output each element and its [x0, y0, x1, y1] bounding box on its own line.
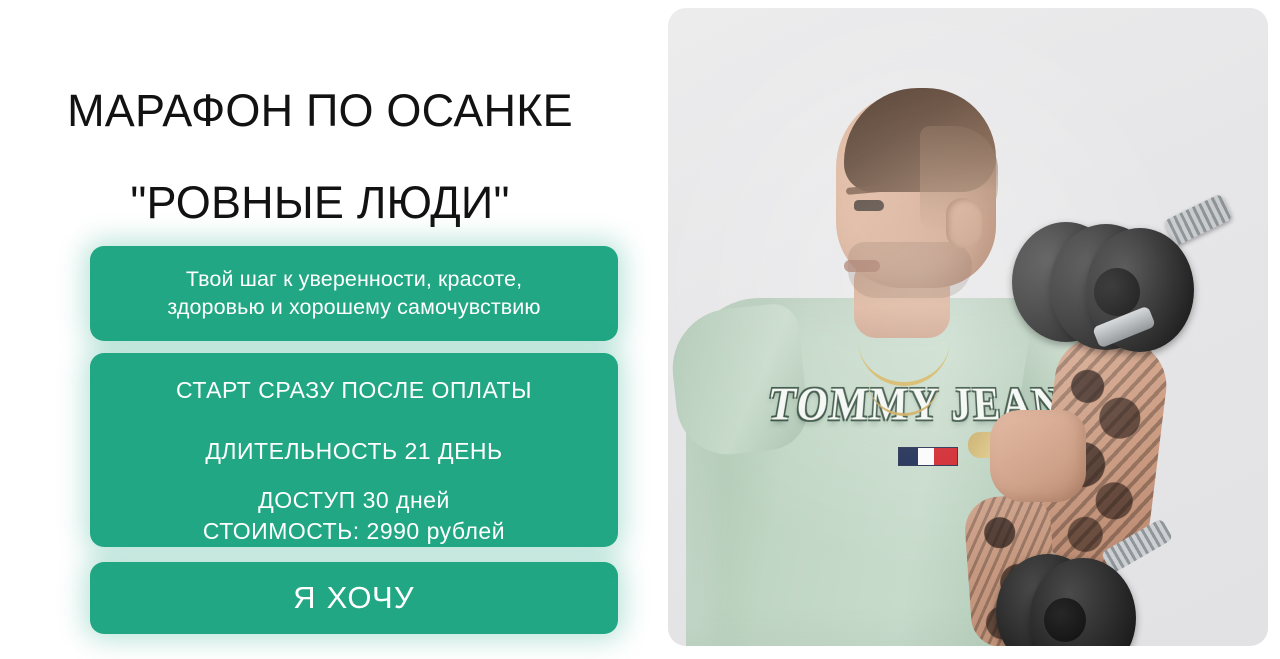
flag-navy-stripe: [899, 448, 918, 465]
lead-benefit-card: Твой шаг к уверенности, красоте, здоровь…: [90, 246, 618, 341]
detail-price-line: СТОИМОСТЬ: 2990 рублей: [203, 518, 505, 545]
dumbbell-lower: [986, 528, 1196, 646]
hero-photo-panel: TOMMY JEANS: [668, 8, 1268, 646]
tommy-flag-icon: [898, 447, 958, 466]
ear: [946, 198, 982, 248]
page-title-line-1: МАРАФОН ПО ОСАНКЕ: [0, 88, 640, 134]
detail-start-line: СТАРТ СРАЗУ ПОСЛЕ ОПЛАТЫ: [176, 377, 532, 404]
nose: [834, 204, 868, 250]
flag-red-stripe: [934, 448, 957, 465]
offer-card-stack: Твой шаг к уверенности, красоте, здоровь…: [90, 246, 618, 634]
mouth: [844, 260, 880, 272]
flag-white-stripe: [918, 448, 934, 465]
left-content-pane: МАРАФОН ПО ОСАНКЕ "РОВНЫЕ ЛЮДИ" Твой шаг…: [0, 0, 668, 659]
detail-access-line: ДОСТУП 30 дней: [258, 487, 450, 514]
page-title-line-2: "РОВНЫЕ ЛЮДИ": [0, 180, 640, 226]
dumbbell-upper-hub: [1094, 268, 1140, 316]
i-want-it-button[interactable]: Я ХОЧУ: [90, 562, 618, 634]
dumbbell-lower-hub: [1044, 598, 1086, 642]
lead-benefit-text: Твой шаг к уверенности, красоте, здоровь…: [167, 266, 540, 322]
dumbbell-upper-bar: [1163, 193, 1233, 246]
fist-gripping-dumbbell: [990, 410, 1086, 502]
dumbbell-upper: [998, 194, 1228, 394]
gold-chain-strand: [868, 308, 940, 416]
detail-duration-line: ДЛИТЕЛЬНОСТЬ 21 ДЕНЬ: [205, 438, 502, 465]
hero-photo-image: TOMMY JEANS: [668, 8, 1268, 646]
course-details-card: СТАРТ СРАЗУ ПОСЛЕ ОПЛАТЫ ДЛИТЕЛЬНОСТЬ 21…: [90, 353, 618, 547]
page-title: МАРАФОН ПО ОСАНКЕ "РОВНЫЕ ЛЮДИ": [0, 42, 668, 271]
landing-page: МАРАФОН ПО ОСАНКЕ "РОВНЫЕ ЛЮДИ" Твой шаг…: [0, 0, 1280, 659]
